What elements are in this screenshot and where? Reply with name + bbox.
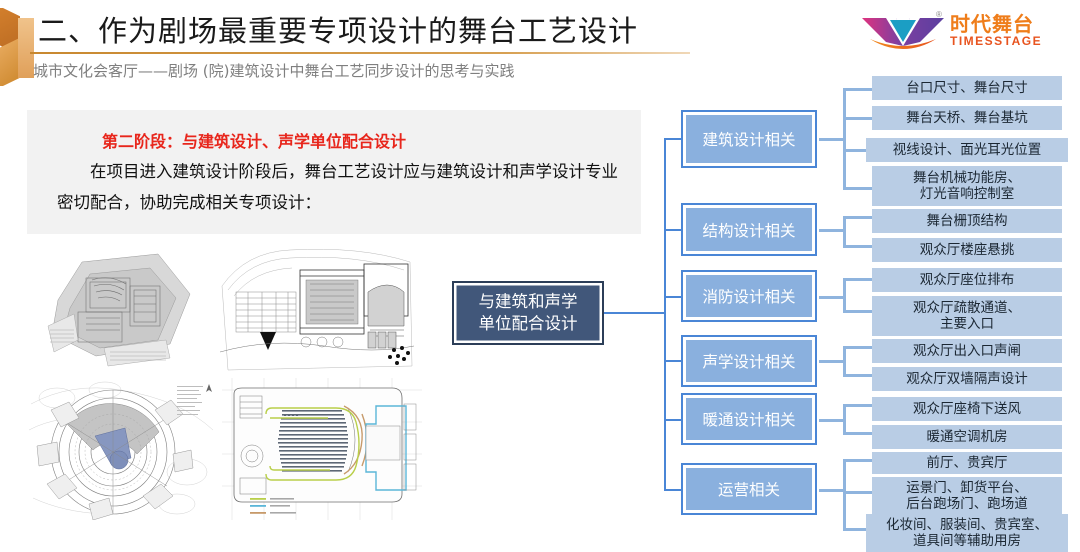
leaf-node[interactable]: 观众厅出入口声闸	[872, 339, 1062, 363]
branch-label: 运营相关	[718, 478, 780, 500]
slide-canvas: 二、作为剧场最重要专项设计的舞台工艺设计 城市文化会客厅——剧场 (院)建筑设计…	[0, 0, 1080, 552]
page-subtitle: 城市文化会客厅——剧场 (院)建筑设计中舞台工艺同步设计的思考与实践	[33, 60, 514, 81]
leaf-node[interactable]: 观众厅座椅下送风	[872, 397, 1062, 421]
roof-plan-drawing	[218, 246, 416, 372]
leaf-label: 舞台栅顶结构	[927, 213, 1008, 229]
leaf-node[interactable]: 舞台机械功能房、灯光音响控制室	[872, 166, 1062, 206]
branch-label: 暖通设计相关	[702, 408, 795, 430]
leaf-label: 运景门、卸货平台、后台跑场门、跑场道	[906, 480, 1028, 512]
leaf-label: 前厅、贵宾厅	[927, 455, 1008, 471]
page-title: 二、作为剧场最重要专项设计的舞台工艺设计	[38, 8, 638, 50]
stage-heading: 第二阶段：与建筑设计、声学单位配合设计	[102, 128, 406, 152]
branch-label: 结构设计相关	[702, 219, 795, 241]
leaf-label: 观众厅出入口声闸	[913, 343, 1021, 359]
branch-label: 消防设计相关	[702, 285, 795, 307]
branch-node-hvac[interactable]: 暖通设计相关	[681, 393, 817, 445]
branch-node-fire-protection[interactable]: 消防设计相关	[681, 270, 817, 322]
logo-english-name: TIMESSTAGE	[950, 34, 1042, 48]
leaf-label: 观众厅疏散通道、主要入口	[913, 300, 1021, 332]
leaf-label: 观众厅座椅下送风	[913, 401, 1021, 417]
leaf-node[interactable]: 观众厅疏散通道、主要入口	[872, 296, 1062, 336]
root-line-2: 单位配合设计	[479, 314, 578, 333]
leaf-label: 化妆间、服装间、贵宾室、道具间等辅助用房	[886, 517, 1048, 549]
timesstage-logo-icon	[860, 12, 946, 52]
leaf-node[interactable]: 舞台天桥、舞台基坑	[872, 106, 1062, 130]
leaf-node[interactable]: 观众厅座位排布	[872, 268, 1062, 292]
leaf-node[interactable]: 暖通空调机房	[872, 425, 1062, 449]
leaf-label: 观众厅楼座悬挑	[920, 242, 1015, 258]
branch-node-operations[interactable]: 运营相关	[681, 463, 817, 515]
branch-node-architecture[interactable]: 建筑设计相关	[681, 110, 817, 168]
branch-node-structure[interactable]: 结构设计相关	[681, 203, 817, 256]
title-divider	[30, 52, 690, 54]
leaf-node[interactable]: 运景门、卸货平台、后台跑场门、跑场道	[872, 477, 1062, 515]
leaf-node[interactable]: 舞台栅顶结构	[872, 209, 1062, 233]
leaf-node[interactable]: 观众厅楼座悬挑	[872, 238, 1062, 262]
site-plan-drawing	[30, 248, 210, 370]
leaf-label: 舞台天桥、舞台基坑	[906, 110, 1028, 126]
leaf-node[interactable]: 前厅、贵宾厅	[872, 452, 1062, 474]
leaf-label: 暖通空调机房	[927, 429, 1008, 445]
leaf-label: 台口尺寸、舞台尺寸	[906, 80, 1028, 96]
leaf-node[interactable]: 化妆间、服装间、贵宾室、道具间等辅助用房	[866, 514, 1068, 552]
branch-label: 声学设计相关	[702, 350, 795, 372]
leaf-node[interactable]: 台口尺寸、舞台尺寸	[872, 76, 1062, 100]
auditorium-evacuation-plan-drawing	[222, 378, 422, 520]
root-line-1: 与建筑和声学	[479, 292, 578, 311]
leaf-label: 舞台机械功能房、灯光音响控制室	[913, 170, 1021, 202]
logo-chinese-name: 时代舞台	[950, 8, 1034, 37]
orange-cube-decoration-icon	[0, 8, 34, 86]
circular-auditorium-plan-drawing	[27, 380, 217, 520]
leaf-node[interactable]: 视线设计、面光耳光位置	[866, 138, 1068, 162]
leaf-label: 观众厅双墙隔声设计	[906, 371, 1028, 387]
brand-logo: ® 时代舞台 TIMESSTAGE	[860, 6, 1072, 56]
branch-node-acoustics[interactable]: 声学设计相关	[681, 335, 817, 387]
stage-paragraph: 在项目进入建筑设计阶段后，舞台工艺设计应与建筑设计和声学设计专业密切配合，协助完…	[57, 156, 627, 218]
leaf-node[interactable]: 观众厅双墙隔声设计	[872, 367, 1062, 391]
description-panel: 第二阶段：与建筑设计、声学单位配合设计 在项目进入建筑设计阶段后，舞台工艺设计应…	[27, 110, 641, 234]
diagram-root-node[interactable]: 与建筑和声学 单位配合设计	[452, 281, 604, 345]
leaf-label: 视线设计、面光耳光位置	[893, 142, 1042, 158]
branch-label: 建筑设计相关	[702, 128, 795, 150]
leaf-label: 观众厅座位排布	[920, 272, 1015, 288]
registered-mark: ®	[936, 10, 942, 19]
